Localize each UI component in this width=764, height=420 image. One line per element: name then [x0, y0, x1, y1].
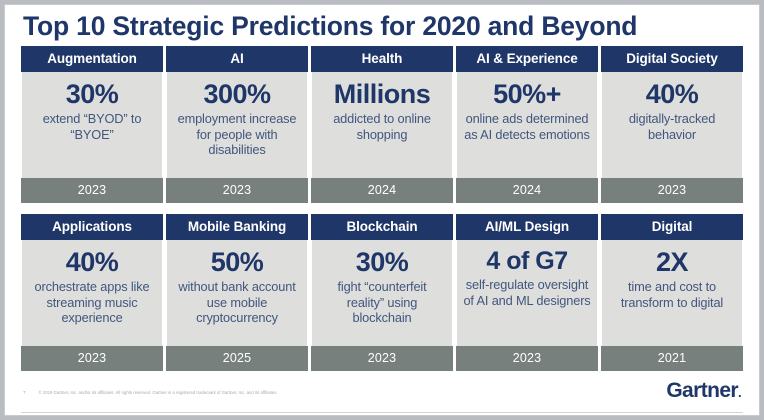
card-description: digitally-tracked behavior: [608, 111, 736, 142]
card-body: 50% without bank account use mobile cryp…: [166, 240, 308, 346]
card-description: employment increase for people with disa…: [173, 111, 301, 158]
card-body: 4 of G7 self-regulate oversight of AI an…: [456, 240, 598, 346]
card-description: fight “counterfeit reality” using blockc…: [318, 279, 446, 326]
card-year: 2024: [456, 178, 598, 204]
card-body: 40% digitally-tracked behavior: [601, 72, 743, 178]
card-description: time and cost to transform to digital: [608, 279, 736, 310]
legal-notice: 7 © 2019 Gartner, Inc. and/or its affili…: [23, 390, 278, 395]
card-year: 2021: [601, 346, 743, 372]
card-header: AI: [166, 46, 308, 72]
card-stat: 50%: [173, 248, 301, 276]
card-header: Health: [311, 46, 453, 72]
prediction-card-augmentation: Augmentation 30% extend “BYOD” to “BYOE”…: [21, 46, 163, 203]
card-year: 2023: [166, 178, 308, 204]
card-header: Blockchain: [311, 214, 453, 240]
card-header: Digital: [601, 214, 743, 240]
card-stat: 4 of G7: [463, 248, 591, 274]
card-stat: 40%: [608, 80, 736, 108]
card-stat: 300%: [173, 80, 301, 108]
card-body: 30% extend “BYOD” to “BYOE”: [21, 72, 163, 178]
card-header: Augmentation: [21, 46, 163, 72]
card-year: 2023: [21, 346, 163, 372]
card-description: extend “BYOD” to “BYOE”: [28, 111, 156, 142]
card-body: 2X time and cost to transform to digital: [601, 240, 743, 346]
card-description: orchestrate apps like streaming music ex…: [28, 279, 156, 326]
card-year: 2023: [601, 178, 743, 204]
page-number: 7: [23, 390, 26, 395]
prediction-card-health: Health Millions addicted to online shopp…: [311, 46, 453, 203]
card-header: AI & Experience: [456, 46, 598, 72]
card-year: 2023: [311, 346, 453, 372]
prediction-card-applications: Applications 40% orchestrate apps like s…: [21, 214, 163, 371]
prediction-card-ai-experience: AI & Experience 50%+ online ads determin…: [456, 46, 598, 203]
card-body: 40% orchestrate apps like streaming musi…: [21, 240, 163, 346]
card-year: 2024: [311, 178, 453, 204]
copyright-text: © 2019 Gartner, Inc. and/or its affiliat…: [39, 390, 278, 395]
gartner-logo: Gartner.: [666, 380, 741, 401]
card-year: 2023: [456, 346, 598, 372]
logo-registered-mark: .: [738, 385, 741, 400]
prediction-card-digital: Digital 2X time and cost to transform to…: [601, 214, 743, 371]
card-header: AI/ML Design: [456, 214, 598, 240]
card-description: self-regulate oversight of AI and ML des…: [463, 277, 591, 308]
card-body: 30% fight “counterfeit reality” using bl…: [311, 240, 453, 346]
prediction-card-mobile-banking: Mobile Banking 50% without bank account …: [166, 214, 308, 371]
card-stat: Millions: [318, 80, 446, 108]
card-body: 50%+ online ads determined as AI detects…: [456, 72, 598, 178]
prediction-block-2: Applications 40% orchestrate apps like s…: [5, 214, 759, 371]
card-body: Millions addicted to online shopping: [311, 72, 453, 178]
logo-text: Gartner: [666, 379, 738, 402]
prediction-card-ai: AI 300% employment increase for people w…: [166, 46, 308, 203]
card-year: 2023: [21, 178, 163, 204]
card-stat: 30%: [318, 248, 446, 276]
title-container: Top 10 Strategic Predictions for 2020 an…: [5, 5, 759, 45]
card-description: online ads determined as AI detects emot…: [463, 111, 591, 142]
slide-footer: 7 © 2019 Gartner, Inc. and/or its affili…: [5, 375, 759, 415]
card-description: addicted to online shopping: [318, 111, 446, 142]
card-stat: 2X: [608, 248, 736, 276]
prediction-block-1: Augmentation 30% extend “BYOD” to “BYOE”…: [5, 46, 759, 203]
footer-divider: [21, 412, 743, 413]
prediction-card-blockchain: Blockchain 30% fight “counterfeit realit…: [311, 214, 453, 371]
card-body: 300% employment increase for people with…: [166, 72, 308, 178]
card-header: Mobile Banking: [166, 214, 308, 240]
card-description: without bank account use mobile cryptocu…: [173, 279, 301, 326]
page-title: Top 10 Strategic Predictions for 2020 an…: [23, 12, 759, 41]
card-header: Digital Society: [601, 46, 743, 72]
slide: Top 10 Strategic Predictions for 2020 an…: [4, 4, 760, 416]
card-header: Applications: [21, 214, 163, 240]
card-year: 2025: [166, 346, 308, 372]
prediction-card-ai-ml-design: AI/ML Design 4 of G7 self-regulate overs…: [456, 214, 598, 371]
card-stat: 30%: [28, 80, 156, 108]
prediction-card-digital-society: Digital Society 40% digitally-tracked be…: [601, 46, 743, 203]
card-stat: 50%+: [463, 80, 591, 108]
card-stat: 40%: [28, 248, 156, 276]
